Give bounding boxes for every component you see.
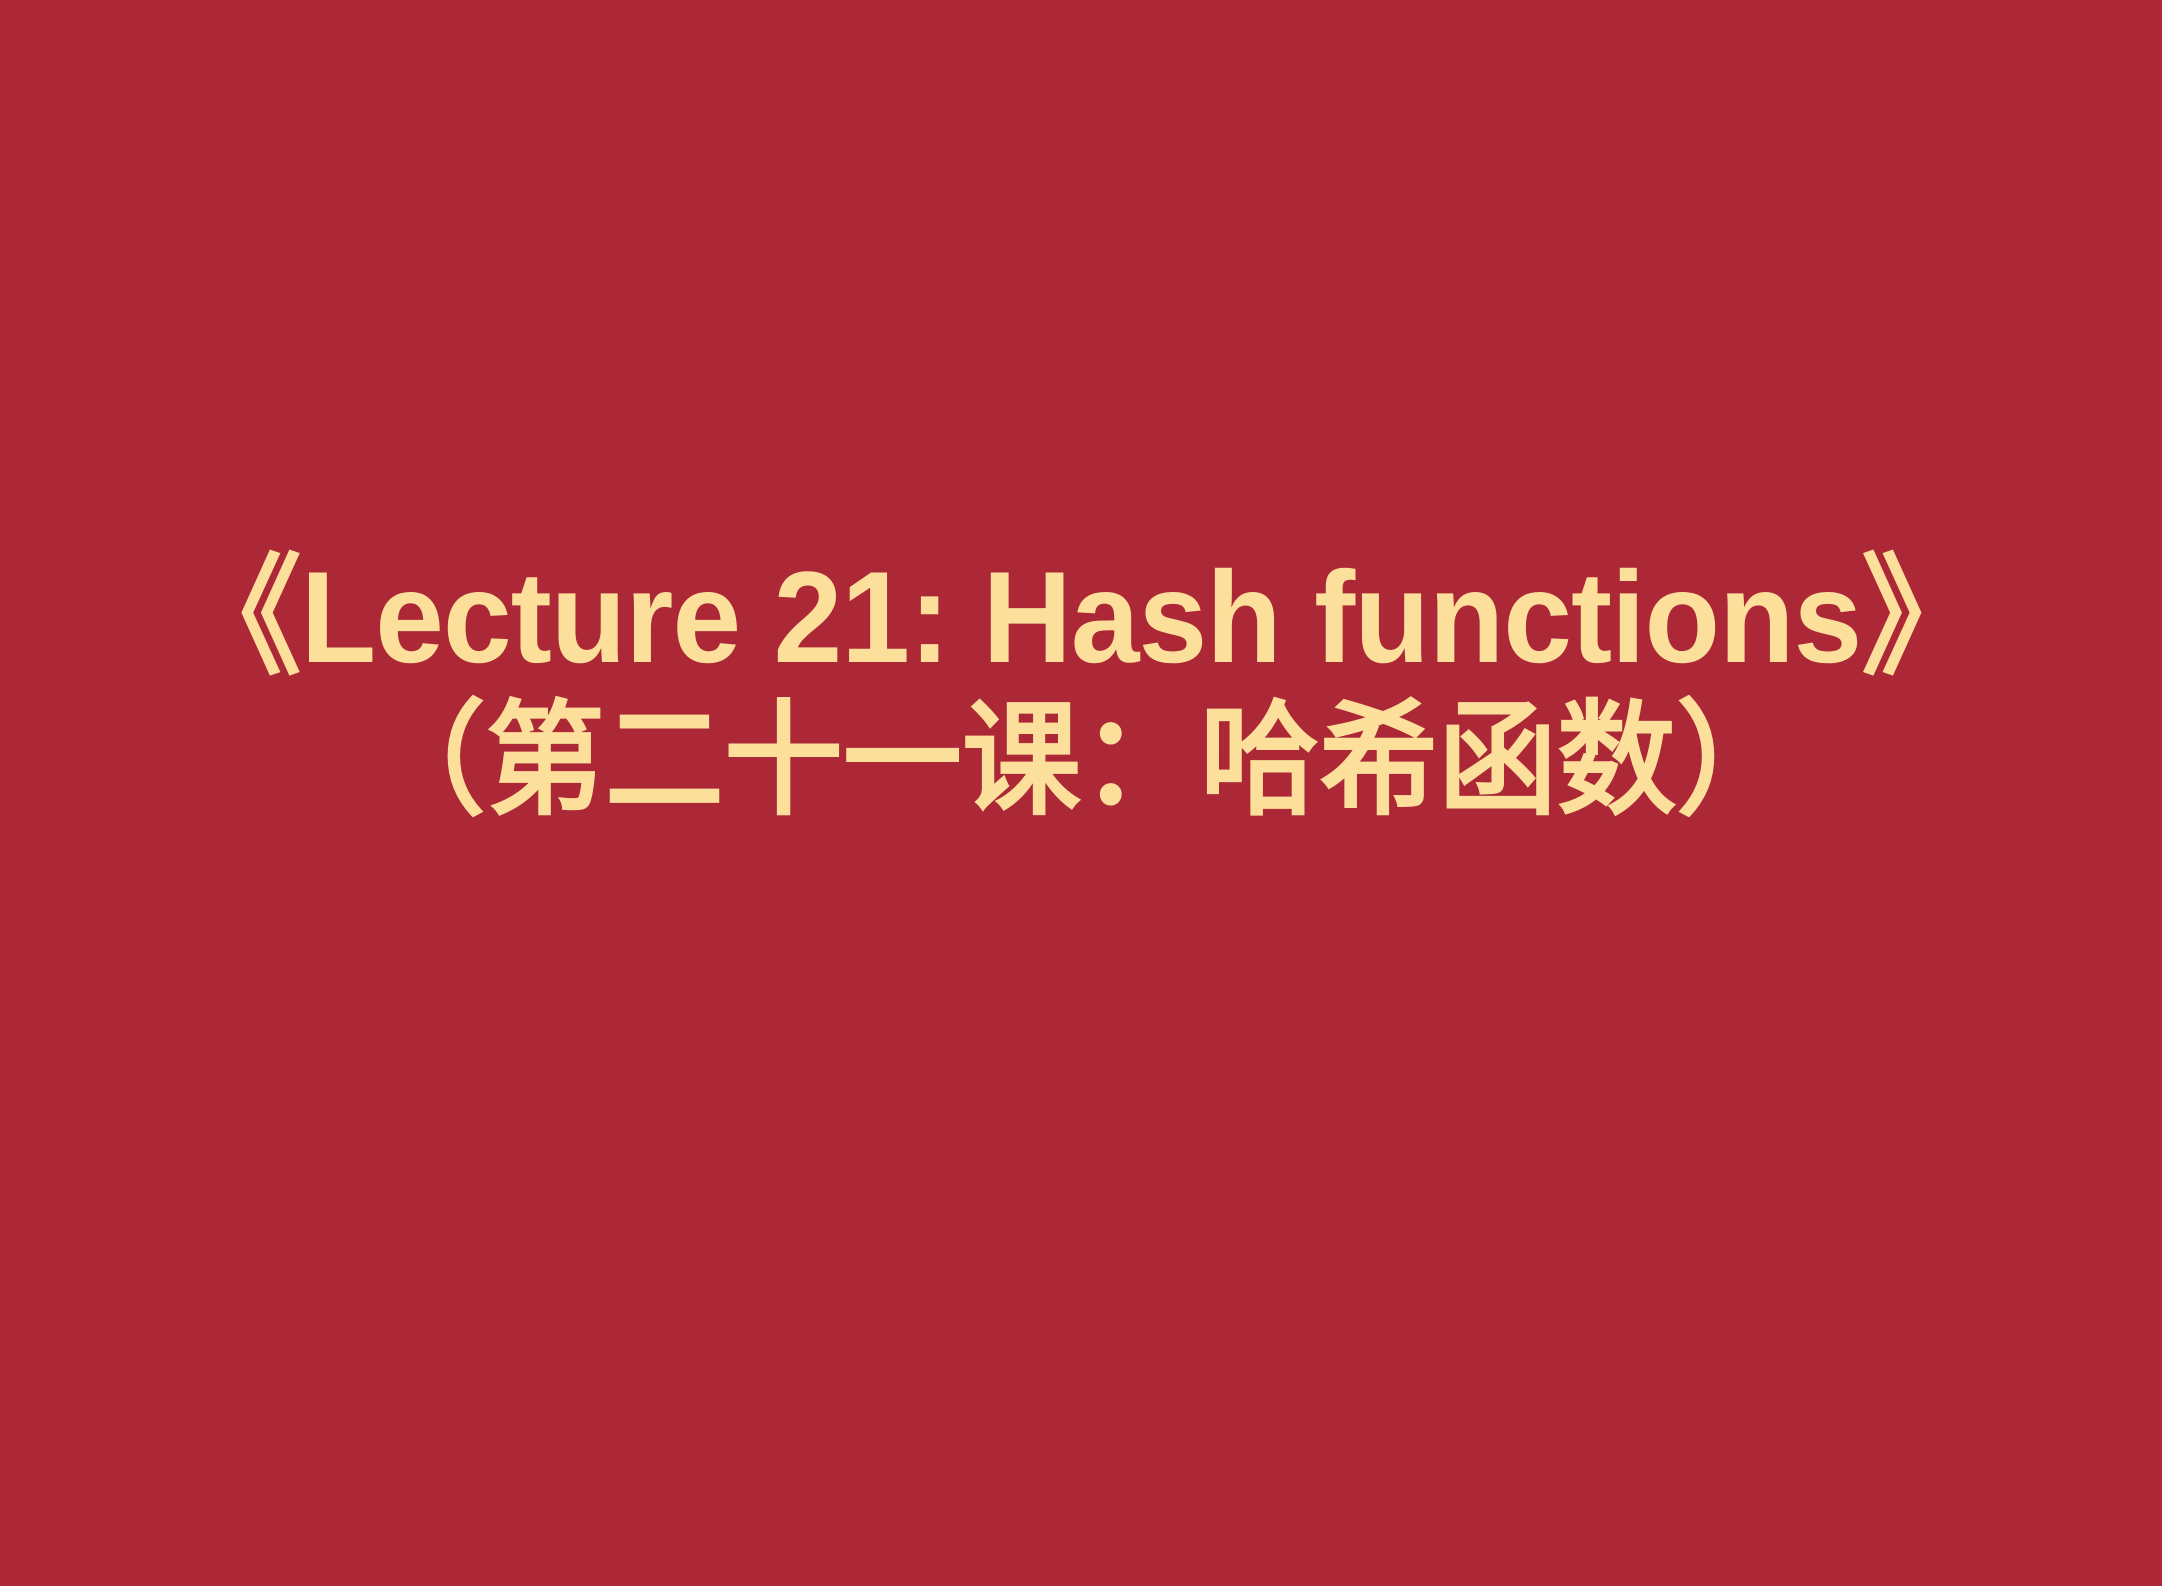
slide-title-chinese: （第二十一课：哈希函数） — [43, 686, 2119, 836]
slide-title-english: 《Lecture 21: Hash functions》 — [54, 548, 2108, 686]
slide-title-block: 《Lecture 21: Hash functions》 （第二十一课：哈希函数… — [0, 548, 2162, 836]
title-slide: 《Lecture 21: Hash functions》 （第二十一课：哈希函数… — [0, 0, 2162, 1586]
